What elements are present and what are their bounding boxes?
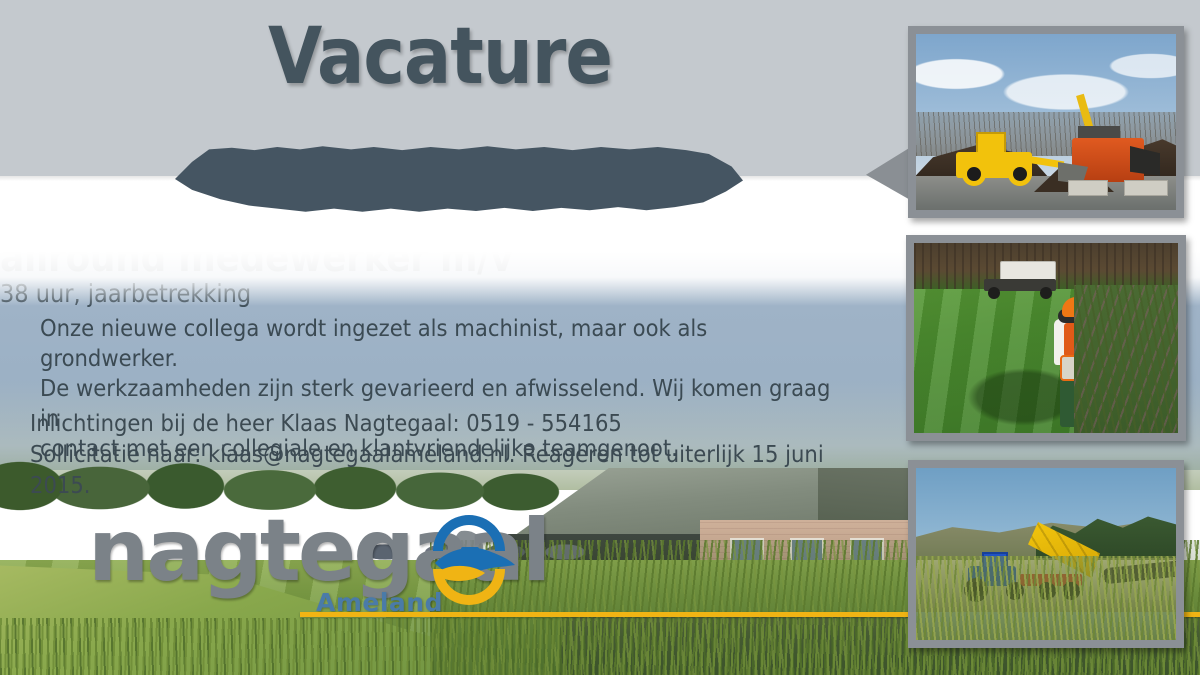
job-description-line-1: Onze nieuwe collega wordt ingezet als ma… — [40, 313, 840, 373]
photo1-concrete-block — [1068, 180, 1108, 196]
nagtegaal-bird-circle-emblem-icon — [418, 510, 520, 612]
photo1-concrete-block — [1124, 180, 1168, 196]
vacancy-poster: Vacature allround medewerker m/v 38 uur,… — [0, 0, 1200, 675]
photo-wheel-loader-and-screening-machine — [908, 26, 1184, 218]
page-title: Vacature — [0, 12, 880, 102]
photo2-shrub-border — [1074, 285, 1178, 433]
photo1-loader-wheel — [1008, 162, 1032, 186]
redaction-block — [175, 140, 743, 218]
photo1-loader-wheel — [962, 162, 986, 186]
photo2-mower-wheel — [1040, 287, 1052, 299]
photo2-mower-wheel — [988, 287, 1000, 299]
photo-tractor-tipping-trailer — [908, 460, 1184, 648]
contact-email-line: Sollicitatie naar: klaas@nagtegaalamelan… — [30, 439, 850, 501]
company-logo: nagtegaal Ameland — [88, 508, 548, 594]
photo3-foreground-grass — [916, 556, 1176, 640]
contact-details: Inlichtingen bij de heer Klaas Nagtegaal… — [30, 408, 850, 501]
redaction-slab — [175, 140, 743, 218]
photo-worker-with-brushcutter — [906, 235, 1186, 441]
contact-phone-line: Inlichtingen bij de heer Klaas Nagtegaal… — [30, 408, 850, 439]
